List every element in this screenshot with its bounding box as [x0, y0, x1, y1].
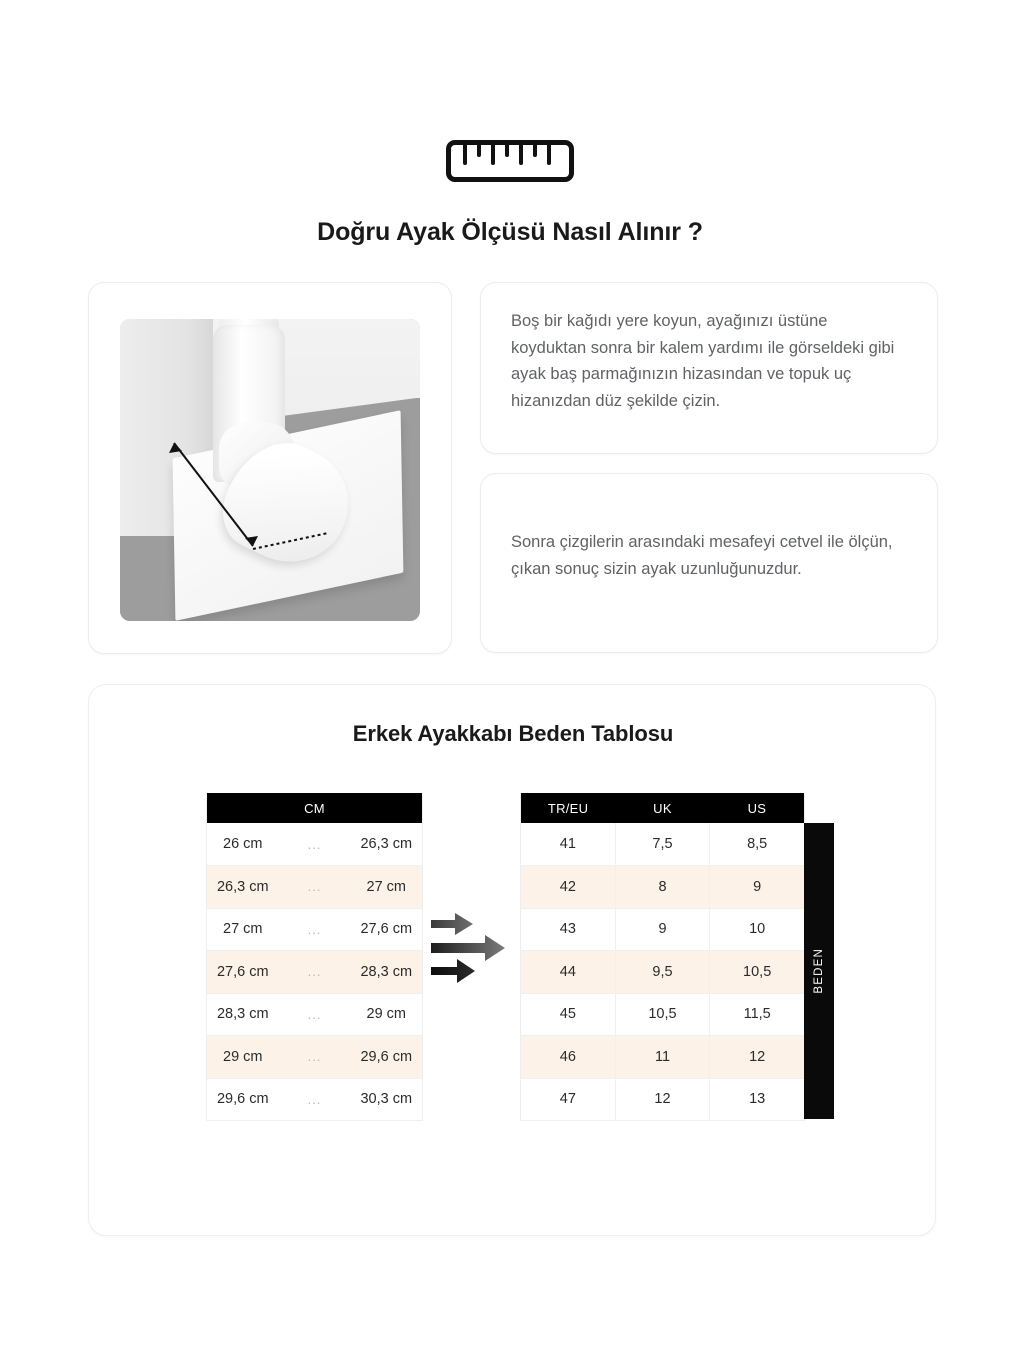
table-row: 29 cm ... 29,6 cm [207, 1036, 423, 1079]
size-guide-page: Doğru Ayak Ölçüsü Nasıl Alınır ? [0, 0, 1020, 1360]
cell-treu: 41 [521, 823, 616, 866]
beden-side-label: BEDEN [804, 823, 834, 1119]
photo-card [88, 282, 452, 654]
instruction-text-column: Boş bir kağıdı yere koyun, ayağınızı üst… [480, 282, 938, 653]
size-chart-card: Erkek Ayakkabı Beden Tablosu CM 26 cm ..… [88, 684, 936, 1236]
table-row: 46 11 12 [521, 1036, 805, 1079]
cm-from: 28,3 cm [207, 993, 279, 1036]
cell-uk: 9 [615, 908, 710, 951]
table-row: 45 10,5 11,5 [521, 993, 805, 1036]
cell-treu: 44 [521, 951, 616, 994]
cm-table-header-row: CM [207, 793, 423, 823]
instructions-section: Boş bir kağıdı yere koyun, ayağınızı üst… [88, 282, 938, 654]
cm-separator: ... [279, 1078, 351, 1121]
table-row: 28,3 cm ... 29 cm [207, 993, 423, 1036]
cm-from: 27 cm [207, 908, 279, 951]
size-table-body: 41 7,5 8,5 42 8 9 43 9 10 [521, 823, 805, 1121]
ruler-icon-wrap [0, 140, 1020, 182]
cell-us: 13 [710, 1078, 805, 1121]
foot-measurement-photo [120, 319, 420, 621]
cm-to: 30,3 cm [351, 1078, 423, 1121]
cell-uk: 12 [615, 1078, 710, 1121]
size-table-wrap: TR/EU UK US 41 7,5 8,5 42 8 [520, 793, 805, 1121]
cm-to: 26,3 cm [351, 823, 423, 866]
instruction-card-1: Boş bir kağıdı yere koyun, ayağınızı üst… [480, 282, 938, 454]
table-row: 41 7,5 8,5 [521, 823, 805, 866]
cell-uk: 7,5 [615, 823, 710, 866]
cm-to: 27 cm [351, 866, 423, 909]
cell-uk: 8 [615, 866, 710, 909]
cm-table: CM 26 cm ... 26,3 cm 26,3 cm ... 27 cm [206, 793, 423, 1121]
cell-us: 12 [710, 1036, 805, 1079]
cm-table-wrap: CM 26 cm ... 26,3 cm 26,3 cm ... 27 cm [206, 793, 423, 1121]
cm-from: 26 cm [207, 823, 279, 866]
table-row: 47 12 13 [521, 1078, 805, 1121]
cm-from: 29,6 cm [207, 1078, 279, 1121]
cm-separator: ... [279, 866, 351, 909]
size-table-header-row: TR/EU UK US [521, 793, 805, 823]
cm-to: 29 cm [351, 993, 423, 1036]
table-row: 44 9,5 10,5 [521, 951, 805, 994]
cm-separator: ... [279, 1036, 351, 1079]
cell-uk: 10,5 [615, 993, 710, 1036]
cell-uk: 9,5 [615, 951, 710, 994]
table-row: 27 cm ... 27,6 cm [207, 908, 423, 951]
cm-to: 27,6 cm [351, 908, 423, 951]
cell-us: 10 [710, 908, 805, 951]
cm-separator: ... [279, 908, 351, 951]
table-row: 26,3 cm ... 27 cm [207, 866, 423, 909]
cm-from: 27,6 cm [207, 951, 279, 994]
cell-treu: 42 [521, 866, 616, 909]
instruction-card-2: Sonra çizgilerin arasındaki mesafeyi cet… [480, 473, 938, 653]
cell-us: 9 [710, 866, 805, 909]
cm-table-body: 26 cm ... 26,3 cm 26,3 cm ... 27 cm 27 c… [207, 823, 423, 1121]
ruler-icon [446, 140, 574, 182]
cell-treu: 45 [521, 993, 616, 1036]
size-chart-title: Erkek Ayakkabı Beden Tablosu [89, 721, 937, 747]
table-row: 42 8 9 [521, 866, 805, 909]
cm-from: 29 cm [207, 1036, 279, 1079]
col-header-uk: UK [615, 793, 710, 823]
beden-label-text: BEDEN [813, 948, 825, 994]
cm-separator: ... [279, 823, 351, 866]
triple-right-arrow-icon [429, 903, 521, 993]
cell-treu: 46 [521, 1036, 616, 1079]
cm-to: 28,3 cm [351, 951, 423, 994]
measure-arrow-icon [120, 319, 420, 621]
cm-from: 26,3 cm [207, 866, 279, 909]
cm-to: 29,6 cm [351, 1036, 423, 1079]
table-row: 26 cm ... 26,3 cm [207, 823, 423, 866]
cm-separator: ... [279, 951, 351, 994]
size-tables: CM 26 cm ... 26,3 cm 26,3 cm ... 27 cm [89, 793, 937, 1133]
cell-uk: 11 [615, 1036, 710, 1079]
cm-separator: ... [279, 993, 351, 1036]
table-row: 27,6 cm ... 28,3 cm [207, 951, 423, 994]
cell-us: 10,5 [710, 951, 805, 994]
size-table: TR/EU UK US 41 7,5 8,5 42 8 [520, 793, 805, 1121]
cell-treu: 43 [521, 908, 616, 951]
cell-us: 11,5 [710, 993, 805, 1036]
page-title: Doğru Ayak Ölçüsü Nasıl Alınır ? [0, 218, 1020, 247]
col-header-treu: TR/EU [521, 793, 616, 823]
table-row: 29,6 cm ... 30,3 cm [207, 1078, 423, 1121]
cell-treu: 47 [521, 1078, 616, 1121]
instruction-text-1: Boş bir kağıdı yere koyun, ayağınızı üst… [511, 312, 894, 410]
table-row: 43 9 10 [521, 908, 805, 951]
cm-header: CM [207, 793, 423, 823]
col-header-us: US [710, 793, 805, 823]
cell-us: 8,5 [710, 823, 805, 866]
instruction-text-2: Sonra çizgilerin arasındaki mesafeyi cet… [511, 533, 893, 578]
